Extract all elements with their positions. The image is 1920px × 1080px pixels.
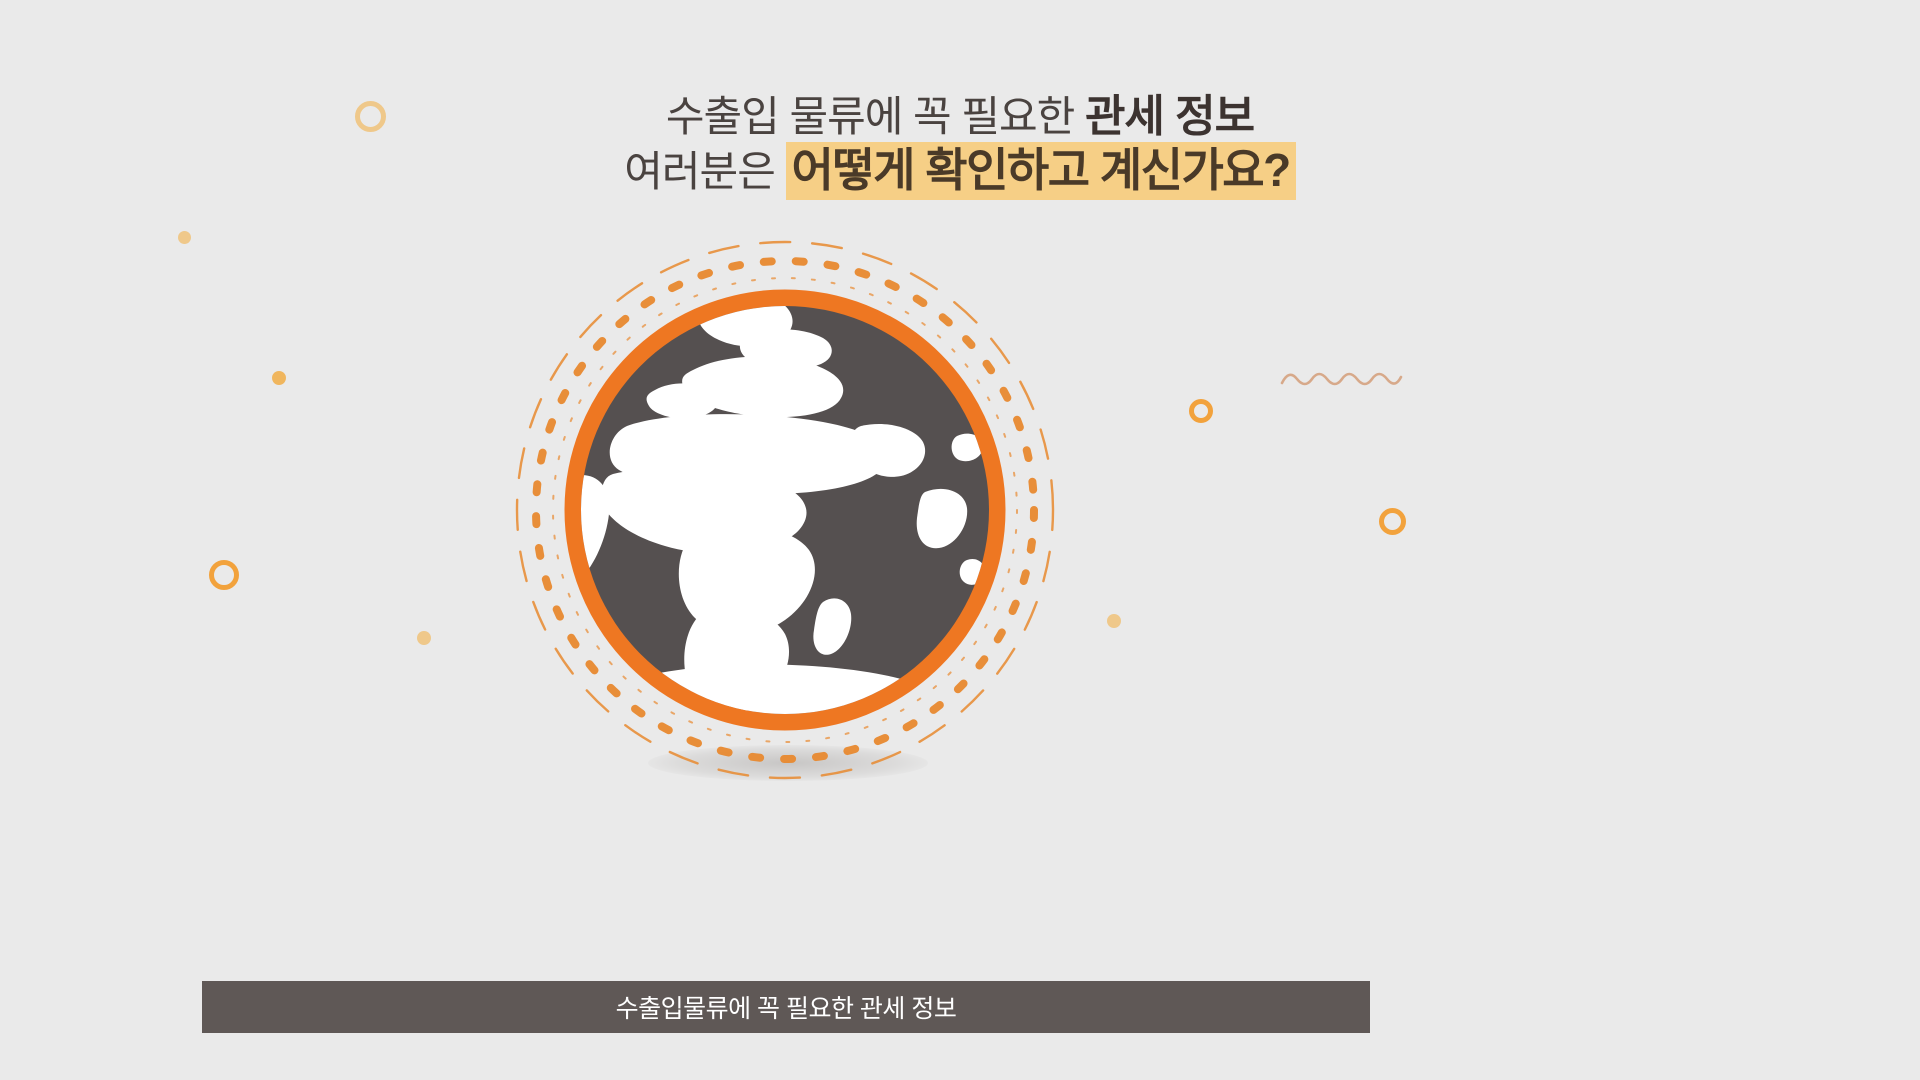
- headline-line-2: 여러분은 어떻게 확인하고 계신가요?: [0, 147, 1920, 193]
- page-title: 수출입 물류에 꼭 필요한 관세 정보 여러분은 어떻게 확인하고 계신가요?: [0, 95, 1920, 193]
- globe-illustration: [505, 230, 1065, 790]
- headline-line-1-plain: 수출입 물류에 꼭 필요한: [666, 93, 1085, 140]
- decor-ring-left-lower: [209, 560, 239, 590]
- subtitle-bar: 수출입물류에 꼭 필요한 관세 정보: [202, 981, 1370, 1033]
- headline-line-1: 수출입 물류에 꼭 필요한 관세 정보: [0, 95, 1920, 139]
- headline-line-2-plain: 여러분은: [624, 148, 785, 195]
- decor-dot-left-upper: [178, 231, 191, 244]
- headline-line-2-highlight: 어떻게 확인하고 계신가요?: [786, 142, 1296, 200]
- video-frame: 수출입 물류에 꼭 필요한 관세 정보 여러분은 어떻게 확인하고 계신가요? …: [0, 0, 1920, 1080]
- decor-ring-right-lower: [1379, 508, 1406, 535]
- subtitle-text: 수출입물류에 꼭 필요한 관세 정보: [616, 989, 957, 1025]
- decor-wavy-line: [1280, 365, 1404, 393]
- decor-dot-right-bottom: [1107, 614, 1121, 628]
- decor-dot-left-mid: [272, 371, 286, 385]
- decor-ring-right-mid: [1189, 399, 1213, 423]
- headline-line-1-bold: 관세 정보: [1085, 92, 1254, 141]
- decor-dot-left-bottom: [417, 631, 431, 645]
